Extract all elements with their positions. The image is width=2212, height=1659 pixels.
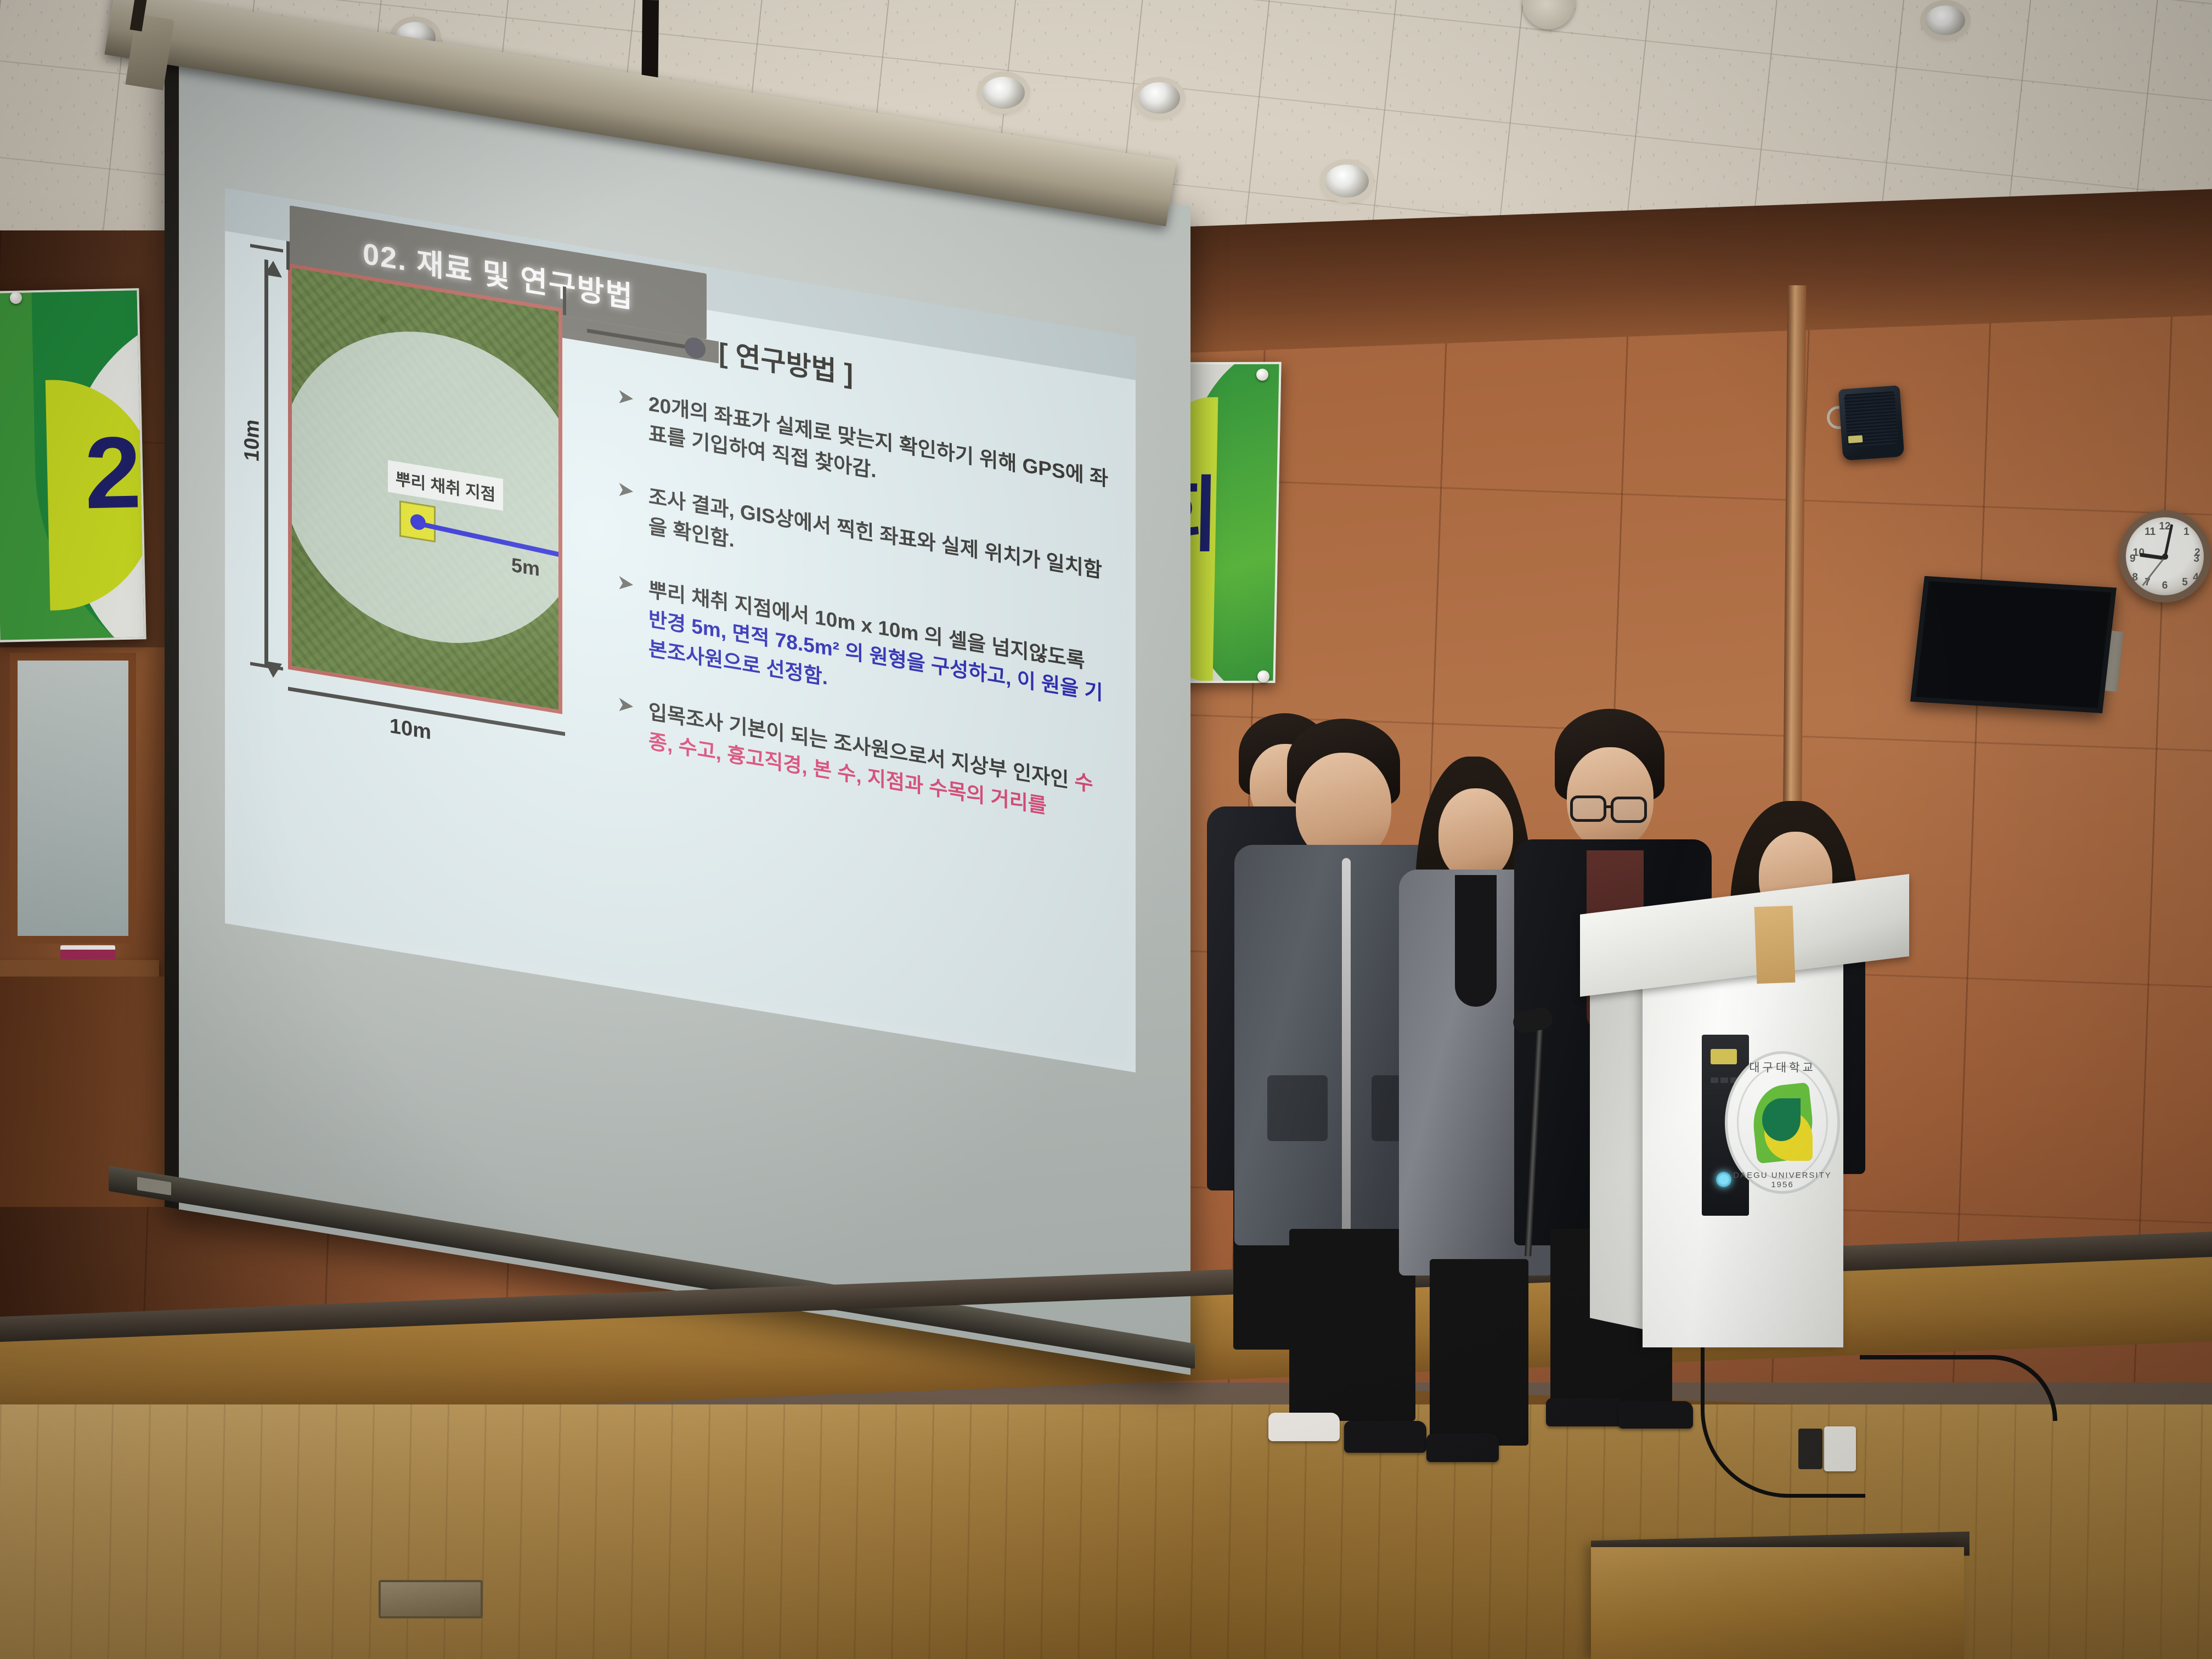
wall-outlet[interactable]	[1824, 1426, 1856, 1471]
wall-monitor	[1910, 576, 2117, 713]
wall-clock: 12 1 2 3 4 5 6 7 8 9 10 11	[2119, 510, 2211, 602]
legs	[1430, 1259, 1528, 1446]
podium: 대구대학교 DAEGU UNIVERSITY 1956	[1580, 894, 1909, 1350]
inner-top	[1455, 875, 1497, 1007]
glasses-icon	[1611, 797, 1647, 823]
floor-access-plate	[379, 1580, 483, 1618]
clock-center-pin	[2162, 554, 2168, 560]
ceiling-downlight-icon	[1325, 165, 1369, 198]
podium-body: 대구대학교 DAEGU UNIVERSITY 1956	[1643, 947, 1843, 1347]
glasses-icon	[1570, 795, 1606, 822]
emblem-text-korean: 대구대학교	[1725, 1059, 1840, 1075]
shoe	[1546, 1398, 1624, 1426]
podium-university-emblem: 대구대학교 DAEGU UNIVERSITY 1956	[1725, 1051, 1840, 1194]
emblem-leaf-mark	[1753, 1085, 1813, 1161]
head	[1438, 788, 1513, 881]
wall-outlet-dark	[1798, 1429, 1822, 1469]
glasses-bridge	[1605, 805, 1613, 808]
emblem-leaf-dark-green	[1762, 1098, 1801, 1141]
banner-pin-icon	[10, 292, 22, 304]
banner-pin-icon	[1257, 670, 1269, 682]
ceiling-downlight-icon	[1138, 82, 1180, 114]
left-cabinet-glass-panel	[10, 653, 136, 944]
emblem-text-english: DAEGU UNIVERSITY 1956	[1725, 1171, 1840, 1189]
clock-numeral: 3	[2193, 553, 2199, 565]
conference-room-photo: 2 회 12 1 2 3 4 5 6 7 8 9 10 11	[0, 0, 2212, 1659]
clock-numeral: 4	[2193, 572, 2199, 584]
clock-numeral: 1	[2183, 526, 2190, 538]
shoe	[1344, 1421, 1426, 1453]
jacket-zipper	[1342, 858, 1351, 1237]
wall-speaker	[1838, 385, 1905, 460]
shelf-object	[60, 945, 115, 960]
shoe	[1268, 1413, 1340, 1441]
banner-pin-icon	[1256, 369, 1268, 381]
ceiling-downlight-icon	[1926, 5, 1965, 35]
shoe	[1426, 1434, 1499, 1462]
shoe	[1618, 1401, 1693, 1429]
clock-face: 12 1 2 3 4 5 6 7 8 9 10 11	[2126, 517, 2204, 595]
stage-step-block	[1591, 1547, 1964, 1659]
left-shelf	[0, 960, 159, 977]
clock-numeral: 11	[2145, 526, 2155, 538]
screen-glare	[165, 38, 1190, 1375]
clock-numeral: 5	[2182, 577, 2188, 589]
podium-taped-paper	[1754, 906, 1796, 984]
ceiling-downlight-icon	[982, 77, 1025, 109]
projection-screen: 02. 재료 및 연구방법 [ 연구방법 ] 10m 뿌리 채취 지점	[165, 38, 1190, 1375]
banner-left-character: 2	[83, 422, 142, 524]
clock-hour-hand	[2140, 553, 2165, 560]
speaker-label	[1848, 435, 1863, 443]
banner-left: 2	[0, 288, 146, 642]
jacket-pocket	[1267, 1075, 1328, 1141]
clock-numeral: 8	[2132, 572, 2138, 584]
clock-numeral: 6	[2162, 580, 2168, 592]
